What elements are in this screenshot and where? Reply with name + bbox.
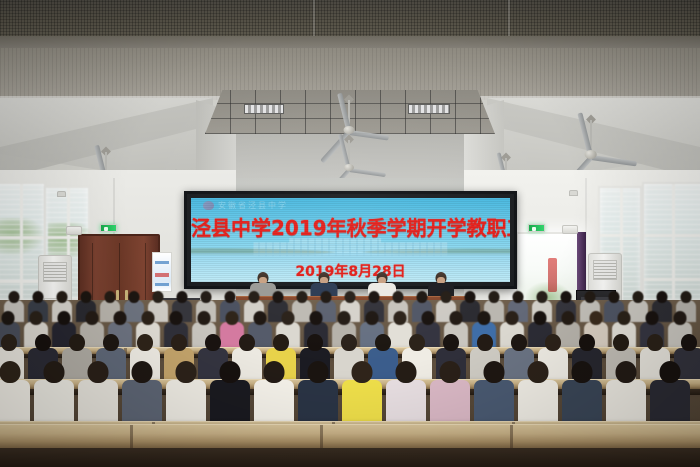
audience-head <box>220 361 241 383</box>
audience-head <box>396 361 417 383</box>
audience-head <box>308 361 329 383</box>
audience-row-near <box>0 0 700 467</box>
desk-seam <box>130 425 133 448</box>
audience-member <box>78 380 118 422</box>
audience-head <box>264 361 285 383</box>
audience-head <box>528 361 549 383</box>
audience-head <box>440 361 461 383</box>
audience-head <box>484 361 505 383</box>
audience-head <box>616 361 637 383</box>
audience-member <box>166 380 206 422</box>
audience-member <box>298 380 338 422</box>
audience-head <box>176 361 197 383</box>
audience-member <box>122 380 162 422</box>
audience-head <box>44 361 65 383</box>
front-desk-face <box>0 448 700 467</box>
audience-member <box>430 380 470 422</box>
audience-head <box>0 361 21 383</box>
desk-seam <box>510 425 513 448</box>
audience-head <box>660 361 681 383</box>
audience-head <box>88 361 109 383</box>
audience-member <box>606 380 646 422</box>
audience-member <box>0 380 30 422</box>
audience-member <box>518 380 558 422</box>
desk-seam <box>320 425 323 448</box>
audience-head <box>352 361 373 383</box>
front-desk-row <box>0 424 700 448</box>
audience-member <box>254 380 294 422</box>
audience-member <box>562 380 602 422</box>
audience-head <box>572 361 593 383</box>
audience-member <box>386 380 426 422</box>
audience-member <box>34 380 74 422</box>
audience-member <box>342 380 382 422</box>
auditorium-photo: 安徽省泾县中学 泾县中学2019年秋季学期开学教职工大会 2019年8月28日 <box>0 0 700 467</box>
audience-member <box>474 380 514 422</box>
audience-member <box>210 380 250 422</box>
audience-head <box>132 361 153 383</box>
audience-member <box>650 380 690 422</box>
